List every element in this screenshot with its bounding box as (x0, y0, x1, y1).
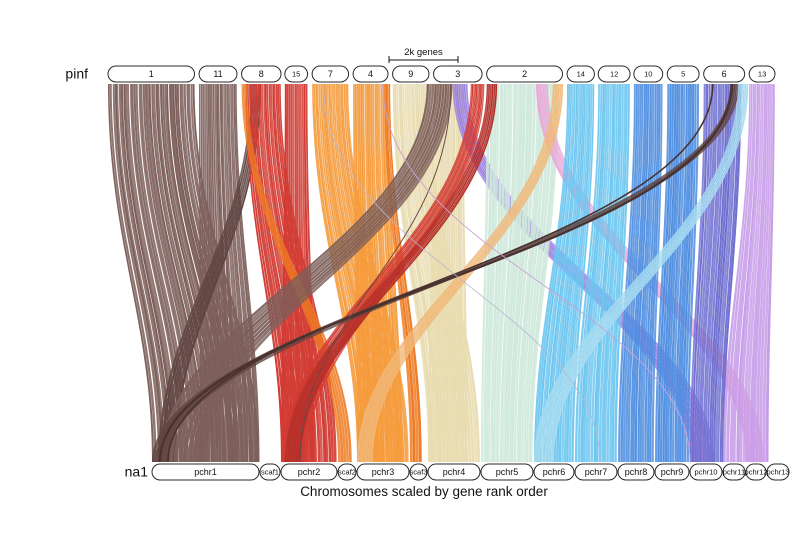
top-chromosome-9[interactable]: 9 (393, 66, 429, 82)
bottom-chromosome-scaf3[interactable]: scaf3 (410, 464, 428, 480)
chromosome-label: pchr7 (585, 467, 608, 477)
bottom-chromosome-pchr4[interactable]: pchr4 (428, 464, 480, 480)
top-chromosome-10[interactable]: 10 (634, 66, 663, 82)
bottom-chromosome-pchr6[interactable]: pchr6 (534, 464, 574, 480)
chromosome-label: 15 (292, 69, 300, 78)
bottom-chromosome-scaf1[interactable]: scaf1 (260, 464, 280, 480)
top-chromosome-2[interactable]: 2 (487, 66, 563, 82)
top-chromosome-13[interactable]: 13 (749, 66, 775, 82)
chromosome-label: 4 (368, 69, 373, 79)
bottom-chromosome-pchr13[interactable]: pchr13 (767, 464, 790, 480)
chromosome-label: 14 (577, 69, 585, 78)
chromosome-label: scaf1 (261, 467, 279, 476)
top-chromosome-15[interactable]: 15 (285, 66, 308, 82)
bottom-chromosome-pchr10[interactable]: pchr10 (690, 464, 722, 480)
chromosome-label: 8 (259, 69, 264, 79)
chromosome-label: 13 (758, 69, 766, 78)
top-chromosome-3[interactable]: 3 (434, 66, 483, 82)
chromosome-label: pchr5 (496, 467, 519, 477)
riparian-plot-figure: 2k genes 111815749321412105613 pchr1scaf… (0, 0, 810, 546)
chromosome-label: pchr4 (443, 467, 466, 477)
genome-label-top: pinf (65, 66, 88, 82)
chromosome-label: 5 (681, 69, 685, 78)
chromosome-label: pchr12 (745, 467, 768, 476)
bottom-chromosome-pchr1[interactable]: pchr1 (152, 464, 259, 480)
bottom-chromosome-pchr3[interactable]: pchr3 (357, 464, 409, 480)
chromosome-label: pchr8 (625, 467, 648, 477)
chromosome-label: 12 (610, 69, 618, 78)
chromosome-label: 11 (213, 69, 222, 79)
chromosome-label: pchr3 (372, 467, 395, 477)
chromosome-label: 6 (722, 69, 727, 79)
chromosome-label: pchr1 (194, 467, 217, 477)
figure-caption: Chromosomes scaled by gene rank order (300, 484, 548, 499)
top-chromosome-14[interactable]: 14 (567, 66, 594, 82)
top-genome-chromosome-track[interactable]: 111815749321412105613 (108, 66, 775, 82)
chromosome-label: pchr6 (543, 467, 566, 477)
bottom-chromosome-pchr5[interactable]: pchr5 (481, 464, 533, 480)
synteny-plot-canvas: 2k genes 111815749321412105613 pchr1scaf… (0, 0, 810, 546)
chromosome-label: 10 (644, 69, 652, 78)
chromosome-label: pchr11 (723, 467, 745, 476)
top-chromosome-7[interactable]: 7 (312, 66, 348, 82)
chromosome-label: pchr13 (767, 467, 790, 476)
chromosome-label: 1 (149, 69, 154, 79)
scale-bar-label: 2k genes (404, 47, 443, 58)
bottom-chromosome-pchr9[interactable]: pchr9 (655, 464, 689, 480)
top-chromosome-11[interactable]: 11 (199, 66, 237, 82)
chromosome-label: pchr10 (695, 467, 718, 476)
top-chromosome-4[interactable]: 4 (353, 66, 388, 82)
bottom-chromosome-scaf2[interactable]: scaf2 (338, 464, 356, 480)
top-chromosome-6[interactable]: 6 (704, 66, 745, 82)
chromosome-label: scaf3 (410, 467, 428, 476)
chromosome-label: 7 (328, 69, 333, 79)
bottom-genome-chromosome-track[interactable]: pchr1scaf1pchr2scaf2pchr3scaf3pchr4pchr5… (152, 464, 789, 480)
bottom-chromosome-pchr8[interactable]: pchr8 (618, 464, 654, 480)
top-chromosome-12[interactable]: 12 (598, 66, 630, 82)
bottom-chromosome-pchr7[interactable]: pchr7 (575, 464, 617, 480)
chromosome-label: 2 (522, 69, 527, 79)
chromosome-label: scaf2 (338, 467, 356, 476)
chromosome-label: 3 (455, 69, 460, 79)
top-chromosome-8[interactable]: 8 (242, 66, 281, 82)
genome-label-bottom: na1 (125, 464, 149, 480)
top-chromosome-5[interactable]: 5 (667, 66, 699, 82)
bottom-chromosome-pchr11[interactable]: pchr11 (723, 464, 745, 480)
chromosome-label: 9 (408, 69, 413, 79)
chromosome-label: pchr9 (661, 467, 684, 477)
bottom-chromosome-pchr12[interactable]: pchr12 (745, 464, 768, 480)
bottom-chromosome-pchr2[interactable]: pchr2 (281, 464, 337, 480)
chromosome-label: pchr2 (298, 467, 321, 477)
top-chromosome-1[interactable]: 1 (108, 66, 195, 82)
